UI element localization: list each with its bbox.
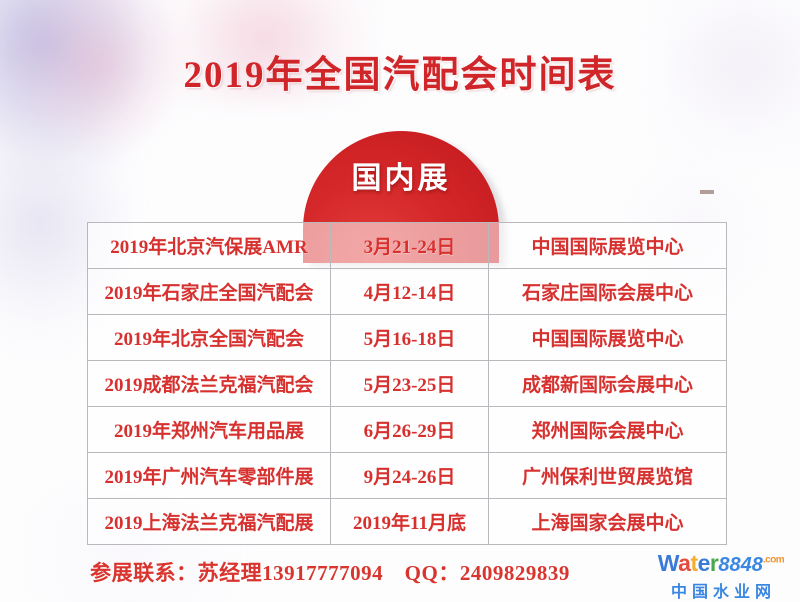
watermark-letter-e: e — [698, 550, 710, 576]
watermark-number: 8848 — [718, 554, 763, 576]
table-row: 2019成都法兰克福汽配会 5月23-25日 成都新国际会展中心 — [88, 361, 727, 407]
cell-exhibition-venue: 广州保利世贸展览馆 — [489, 453, 727, 499]
cell-exhibition-venue: 石家庄国际会展中心 — [489, 269, 727, 315]
cell-exhibition-date: 9月24-26日 — [331, 453, 489, 499]
table-row: 2019上海法兰克福汽配展 2019年11月底 上海国家会展中心 — [88, 499, 727, 545]
decorative-mark — [700, 190, 714, 194]
contact-line: 参展联系：苏经理13917777094 QQ：2409829839 — [0, 557, 660, 587]
schedule-table: 2019年北京汽保展AMR 3月21-24日 中国国际展览中心 2019年石家庄… — [87, 222, 727, 545]
cell-exhibition-date: 3月21-24日 — [331, 223, 489, 269]
watermark-letter-t: t — [690, 550, 697, 576]
cell-exhibition-venue: 中国国际展览中心 — [489, 223, 727, 269]
cell-exhibition-name: 2019年北京汽保展AMR — [88, 223, 331, 269]
cell-exhibition-name: 2019年广州汽车零部件展 — [88, 453, 331, 499]
cell-exhibition-date: 6月26-29日 — [331, 407, 489, 453]
cell-exhibition-name: 2019上海法兰克福汽配展 — [88, 499, 331, 545]
schedule-table-container: 2019年北京汽保展AMR 3月21-24日 中国国际展览中心 2019年石家庄… — [87, 222, 711, 545]
cell-exhibition-name: 2019成都法兰克福汽配会 — [88, 361, 331, 407]
cell-exhibition-venue: 成都新国际会展中心 — [489, 361, 727, 407]
section-banner: 国内展 — [303, 131, 499, 197]
watermark-tld: .com — [763, 554, 784, 565]
table-row: 2019年北京全国汽配会 5月16-18日 中国国际展览中心 — [88, 315, 727, 361]
table-row: 2019年石家庄全国汽配会 4月12-14日 石家庄国际会展中心 — [88, 269, 727, 315]
cell-exhibition-name: 2019年石家庄全国汽配会 — [88, 269, 331, 315]
cell-exhibition-venue: 上海国家会展中心 — [489, 499, 727, 545]
section-banner-label: 国内展 — [303, 153, 499, 197]
cell-exhibition-date: 5月16-18日 — [331, 315, 489, 361]
table-row: 2019年北京汽保展AMR 3月21-24日 中国国际展览中心 — [88, 223, 727, 269]
watermark-letter-a: a — [678, 550, 690, 576]
cell-exhibition-date: 5月23-25日 — [331, 361, 489, 407]
cell-exhibition-name: 2019年郑州汽车用品展 — [88, 407, 331, 453]
cell-exhibition-venue: 中国国际展览中心 — [489, 315, 727, 361]
page-title: 2019年全国汽配会时间表 — [0, 44, 800, 98]
watermark-letter-w: W — [658, 550, 678, 576]
watermark-logo: Water8848.com 中国水业网 — [650, 552, 792, 602]
table-row: 2019年郑州汽车用品展 6月26-29日 郑州国际会展中心 — [88, 407, 727, 453]
watermark-wordmark: Water8848.com — [650, 552, 792, 575]
poster-canvas: 2019年全国汽配会时间表 国内展 2019年北京汽保展AMR 3月21-24日… — [0, 0, 800, 602]
cell-exhibition-name: 2019年北京全国汽配会 — [88, 315, 331, 361]
cell-exhibition-date: 4月12-14日 — [331, 269, 489, 315]
cell-exhibition-venue: 郑州国际会展中心 — [489, 407, 727, 453]
watermark-chinese-name: 中国水业网 — [650, 578, 792, 602]
cell-exhibition-date: 2019年11月底 — [331, 499, 489, 545]
table-row: 2019年广州汽车零部件展 9月24-26日 广州保利世贸展览馆 — [88, 453, 727, 499]
